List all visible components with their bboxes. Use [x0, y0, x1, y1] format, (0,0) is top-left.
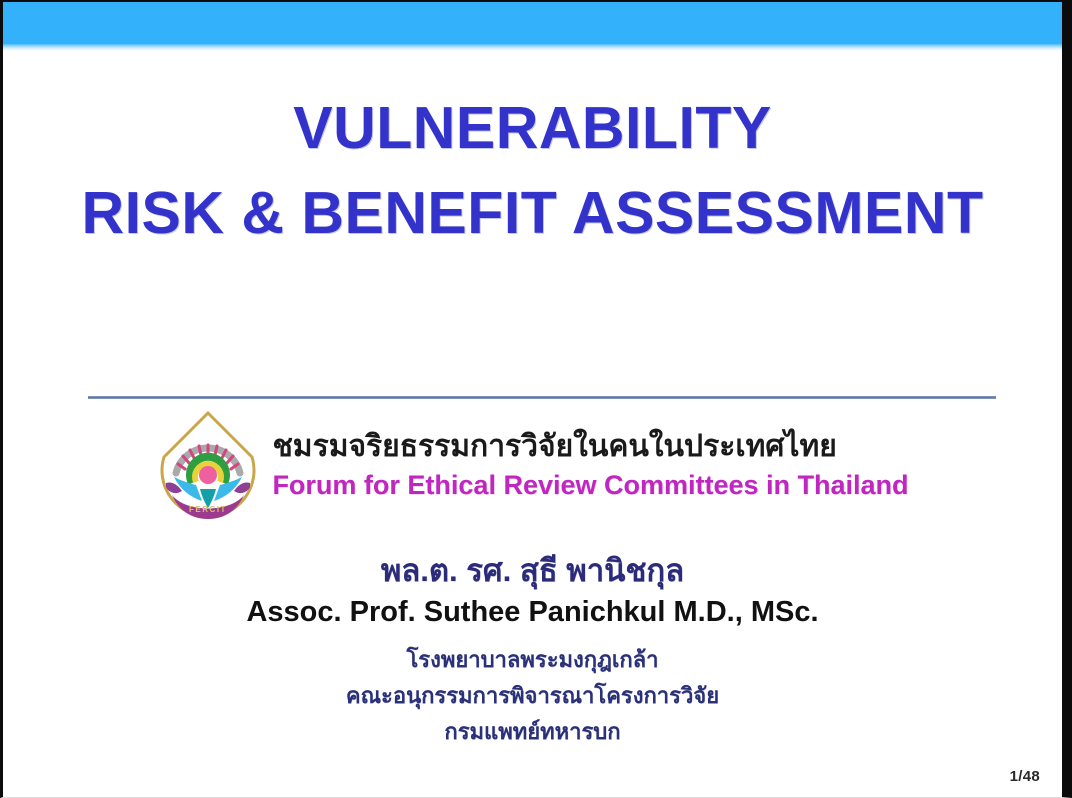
organization-block: FERCIT ชมรมจริยธรรมการวิจัยในคนในประเทศไ… [3, 409, 1062, 521]
fercit-emblem-logo: FERCIT [156, 409, 260, 521]
affiliation-line-subcommittee: คณะอนุกรรมการพิจารณาโครงการวิจัย [3, 685, 1062, 707]
affiliation-line-department: กรมแพทย์ทหารบก [3, 721, 1062, 743]
organization-name-english: Forum for Ethical Review Committees in T… [272, 469, 908, 501]
title-line-vulnerability: VULNERABILITY [3, 99, 1062, 158]
organization-text: ชมรมจริยธรรมการวิจัยในคนในประเทศไทย Foru… [272, 429, 908, 501]
presenter-name-english: Assoc. Prof. Suthee Panichkul M.D., MSc. [3, 596, 1062, 629]
presenter-name-thai: พล.ต. รศ. สุธี พานิชกุล [3, 554, 1062, 588]
fercit-emblem-icon: FERCIT [156, 409, 260, 521]
presenter-block: พล.ต. รศ. สุธี พานิชกุล Assoc. Prof. Sut… [3, 554, 1062, 629]
logo-ribbon-text: FERCIT [189, 505, 227, 514]
slide-viewer: VULNERABILITY RISK & BENEFIT ASSESSMENT [0, 0, 1072, 798]
affiliation-line-hospital: โรงพยาบาลพระมงกุฎเกล้า [3, 649, 1062, 671]
slide-canvas: VULNERABILITY RISK & BENEFIT ASSESSMENT [3, 51, 1062, 796]
title-line-risk-benefit-assessment: RISK & BENEFIT ASSESSMENT [3, 184, 1062, 243]
organization-name-thai: ชมรมจริยธรรมการวิจัยในคนในประเทศไทย [272, 429, 908, 464]
top-bar-gradient-fade [3, 44, 1062, 51]
top-blue-bar [3, 2, 1062, 44]
horizontal-divider [88, 396, 996, 399]
page-indicator: 1/48 [1010, 768, 1040, 785]
affiliation-block: โรงพยาบาลพระมงกุฎเกล้า คณะอนุกรรมการพิจา… [3, 649, 1062, 757]
slide-title: VULNERABILITY RISK & BENEFIT ASSESSMENT [3, 99, 1062, 243]
